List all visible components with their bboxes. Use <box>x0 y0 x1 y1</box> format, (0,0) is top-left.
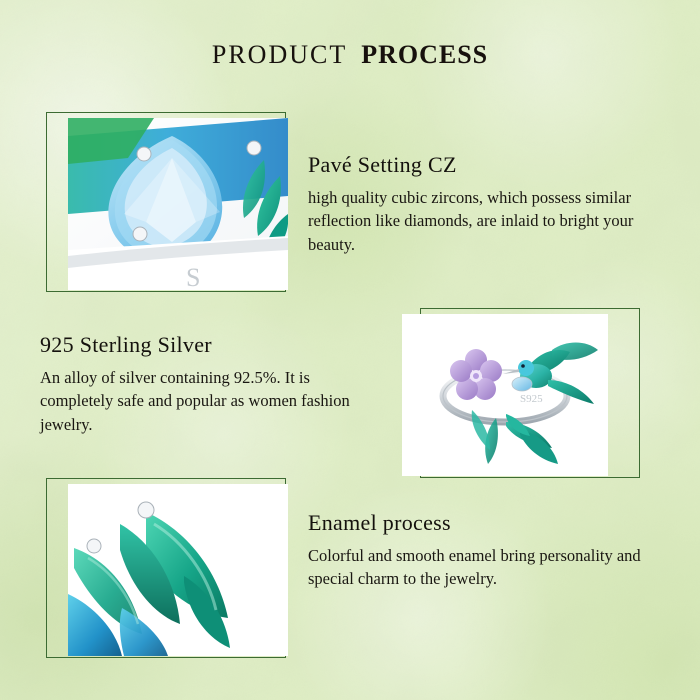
page-title: PRODUCTPROCESS <box>0 40 700 70</box>
product-process-infographic: PRODUCTPROCESS <box>0 0 700 700</box>
svg-text:S925: S925 <box>520 393 543 405</box>
svg-text:S: S <box>186 263 200 290</box>
text-block-enamel: Enamel process Colorful and smooth ename… <box>308 510 668 591</box>
text-block-pave: Pavé Setting CZ high quality cubic zirco… <box>308 152 668 256</box>
photo-sterling-silver: S925 <box>402 314 608 476</box>
photo-enamel-process <box>68 484 288 656</box>
text-block-silver: 925 Sterling Silver An alloy of silver c… <box>40 332 370 436</box>
heading-silver: 925 Sterling Silver <box>40 332 370 358</box>
enamel-feather-illustration <box>68 484 288 656</box>
photo-pave-setting-cz: S <box>68 118 288 290</box>
heading-enamel: Enamel process <box>308 510 668 536</box>
body-silver: An alloy of silver containing 92.5%. It … <box>40 366 370 436</box>
pave-stone-illustration: S <box>68 118 288 290</box>
heading-pave: Pavé Setting CZ <box>308 152 668 178</box>
page-title-part1: PRODUCT <box>212 40 347 69</box>
body-pave: high quality cubic zircons, which posses… <box>308 186 668 256</box>
page-title-part2: PROCESS <box>361 40 488 69</box>
body-enamel: Colorful and smooth enamel bring persona… <box>308 544 668 591</box>
hummingbird-ring-illustration: S925 <box>402 314 608 476</box>
